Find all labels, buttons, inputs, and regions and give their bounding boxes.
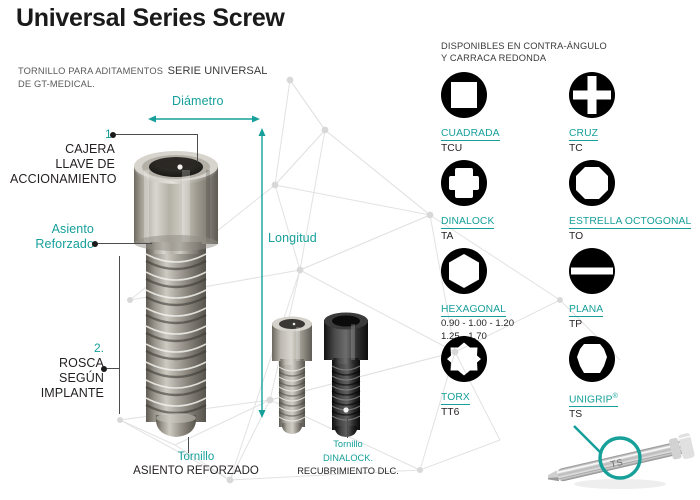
screw-thread-body [146,242,206,437]
driver-item-cruz[interactable]: CRUZ TC [569,72,694,155]
driver-name-estrella-octogonal: ESTRELLA OCTOGONAL [569,216,691,229]
availability-line1: DISPONIBLES EN CONTRA-ÁNGULO [441,40,691,52]
registered-trademark-icon: ® [613,393,618,400]
unigrip-highlight-leader [574,426,600,452]
longitud-label: Longitud [268,231,317,245]
caption-dinalock-teal2: DINALOCK. [280,452,416,466]
driver-code-estrella-octogonal: TO [569,230,694,243]
cross-socket-icon [569,72,615,118]
callout-rosca-bracket [119,256,120,414]
driver-name-plana: PLANA [569,304,603,317]
page-title: Universal Series Screw [16,4,285,33]
unigrip-socket-icon [569,336,615,382]
callout-rosca-leader-h [107,368,119,369]
driver-name-torx: TORX [441,392,470,405]
subtitle-line1-regular: TORNILLO PARA ADITAMENTOS [18,66,163,76]
screw-head [134,151,218,254]
driver-item-hexagonal[interactable]: HEXAGONAL 0.90 - 1.00 - 1.20 1.25 - 1.70 [441,248,566,342]
driver-item-torx[interactable]: TORX TT6 [441,336,566,419]
caption-dinalock-teal1: Tornillo [280,438,416,452]
callout-rosca-line2: SEGÚN [8,371,104,386]
driver-code-cruz: TC [569,142,694,155]
callout-rosca: 2. ROSCA SEGÚN IMPLANTE [8,340,104,401]
driver-code-cuadrada: TCU [441,142,566,155]
infographic-canvas: Universal Series Screw TORNILLO PARA ADI… [0,0,700,500]
caption-asiento-dark: ASIENTO REFORZADO [128,465,264,479]
driver-name-hexagonal: HEXAGONAL [441,304,506,317]
square-socket-icon [441,72,487,118]
driver-name-unigrip: UNIGRIP® [569,391,618,407]
driver-code-plana: TP [569,318,694,331]
driver-name-dinalock: DINALOCK [441,216,494,229]
subtitle-block: TORNILLO PARA ADITAMENTOS SERIE UNIVERSA… [18,64,278,90]
callout-cajera-line3: ACCIONAMIENTO [10,172,115,187]
driver-item-unigrip[interactable]: UNIGRIP® TS [569,336,694,421]
longitud-dimension-arrow [255,128,269,418]
driver-sizes-hexagonal-line1: 0.90 - 1.00 - 1.20 [441,318,566,330]
flat-slot-socket-icon [569,248,615,294]
small-screw-dinalock-dlc-illustration [318,300,374,448]
screwdriver-illustration: TS [548,418,700,498]
callout-rosca-number: 2. [94,341,104,355]
subtitle-line1-emphasis: SERIE UNIVERSAL [168,65,268,77]
callout-cajera-leader-v [197,134,198,162]
callout-rosca-line1: ROSCA [8,356,104,371]
diametro-dimension-arrow [148,112,260,126]
availability-line2: Y CARRACA REDONDA [441,52,691,64]
diametro-label: Diámetro [172,94,224,108]
subtitle-line2: DE GT-MEDICAL. [18,78,278,91]
torx-socket-icon [441,336,487,382]
driver-name-unigrip-text: UNIGRIP [569,394,613,405]
driver-name-cruz: CRUZ [569,128,598,141]
octagon-socket-icon [569,160,615,206]
driver-item-plana[interactable]: PLANA TP [569,248,694,331]
callout-cajera-dot [110,132,116,138]
callout-rosca-line3: IMPLANTE [8,386,104,401]
driver-item-estrella-octogonal[interactable]: ESTRELLA OCTOGONAL TO [569,160,694,243]
callout-asiento-dot [92,241,98,247]
driver-item-cuadrada[interactable]: CUADRADA TCU [441,72,566,155]
callout-cajera-line1: CAJERA [10,142,115,157]
caption-tornillo-dinalock: Tornillo DINALOCK. RECUBRIMIENTO DLC. [280,438,416,479]
caption-tornillo-asiento-reforzado: Tornillo ASIENTO REFORZADO [128,451,264,478]
callout-cajera-line2: LLAVE DE [10,157,115,172]
driver-item-dinalock[interactable]: DINALOCK TA [441,160,566,243]
caption-dinalock-leader [347,418,348,438]
dinalock-socket-icon [441,160,487,206]
availability-note: DISPONIBLES EN CONTRA-ÁNGULO Y CARRACA R… [441,40,691,64]
hexagon-socket-icon [441,248,487,294]
callout-cajera: 1. CAJERA LLAVE DE ACCIONAMIENTO [10,126,115,187]
driver-code-dinalock: TA [441,230,566,243]
caption-dinalock-dark: RECUBRIMIENTO DLC. [280,465,416,479]
main-screw-illustration [120,130,270,450]
small-screw-titanium-illustration [266,305,318,445]
callout-asiento-reforzado: Asiento Reforzado [16,222,94,252]
callout-asiento-line2: Reforzado [16,237,94,252]
callout-rosca-dot [101,366,107,372]
driver-name-cuadrada: CUADRADA [441,128,500,141]
callout-cajera-leader-h [116,134,198,135]
callout-asiento-line1: Asiento [16,222,94,237]
callout-asiento-leader [98,243,152,244]
caption-asiento-teal: Tornillo [128,451,264,465]
